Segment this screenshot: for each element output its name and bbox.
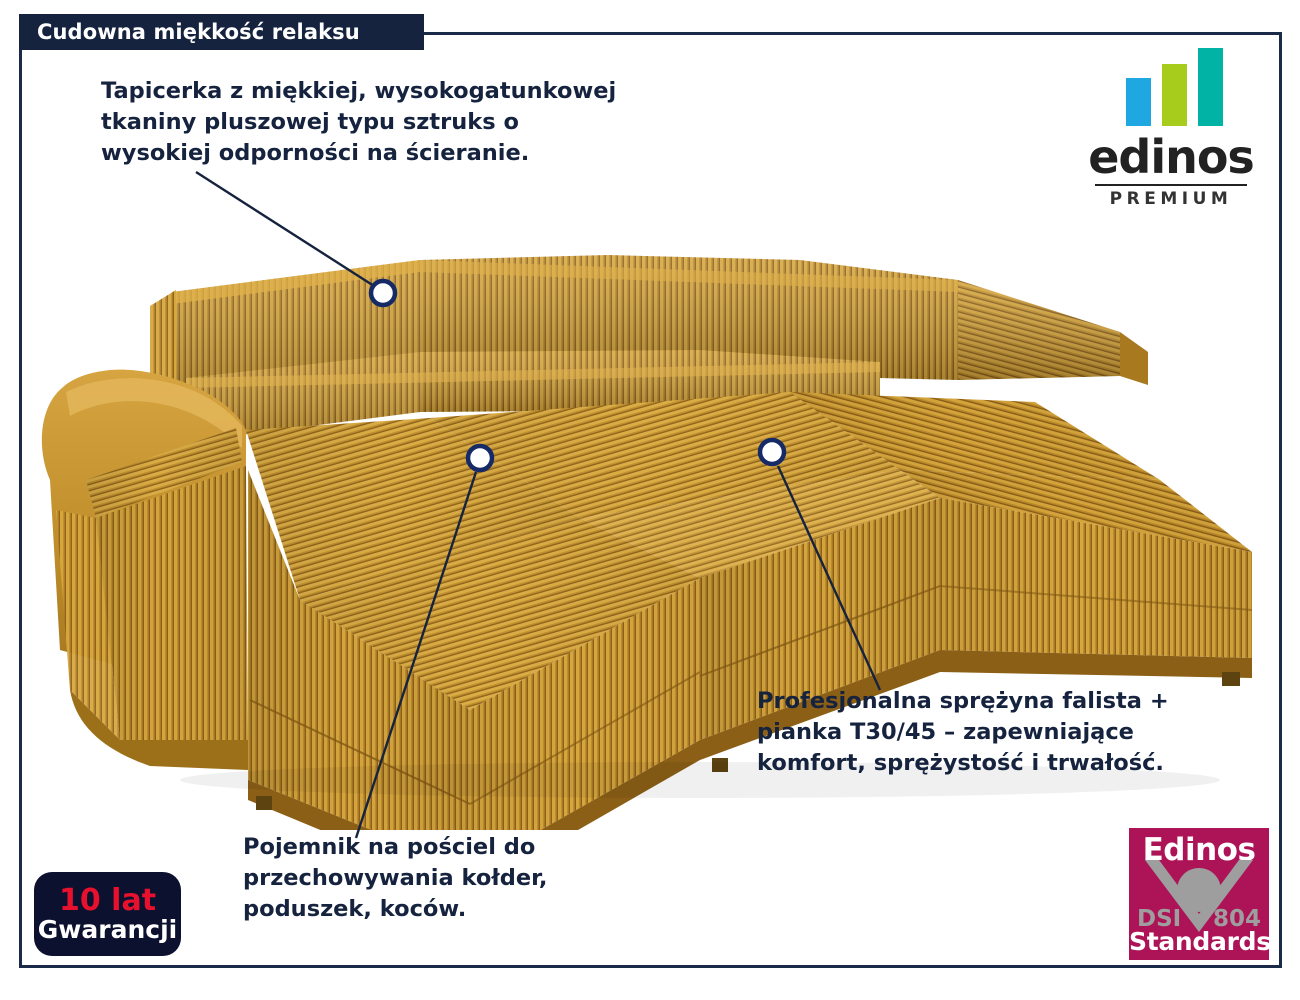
callout-storage-line-1: Pojemnik na pościel do (243, 832, 547, 863)
logo-divider (1095, 184, 1247, 186)
callout-text-storage: Pojemnik na pościel do przechowywania ko… (243, 832, 547, 925)
warranty-label: Gwarancji (38, 916, 177, 943)
fabric-marker[interactable] (371, 281, 395, 305)
logo-bar-blue (1126, 78, 1151, 126)
page-title-banner: Cudowna miękkość relaksu (19, 14, 424, 50)
callout-storage-line-3: poduszek, koców. (243, 894, 547, 925)
brand-logo-edinos-premium: edinos PREMIUM (1086, 48, 1256, 220)
logo-subtitle: PREMIUM (1086, 189, 1256, 209)
dsi-label: Standards (1129, 927, 1269, 956)
callout-text-fabric: Tapicerka z miękkiej, wysokogatunkowej t… (101, 76, 616, 169)
warranty-badge: 10 lat Gwarancji (34, 872, 181, 956)
callout-fabric-line-3: wysokiej odporności na ścieranie. (101, 138, 616, 169)
leader-line-fabric (196, 172, 374, 286)
logo-bar-teal (1198, 48, 1223, 126)
leader-line-storage (356, 472, 476, 838)
logo-wordmark: edinos (1086, 132, 1256, 182)
dsi-standards-badge: Edinos DSI 804 Standards (1129, 828, 1269, 960)
leader-line-spring (778, 466, 880, 690)
page-title: Cudowna miękkość relaksu (37, 20, 360, 44)
storage-marker[interactable] (468, 446, 492, 470)
spring-marker[interactable] (760, 440, 784, 464)
logo-bars-icon (1126, 48, 1226, 126)
infographic-canvas: Cudowna miękkość relaksu Tapicerka z mię… (0, 0, 1300, 1000)
callout-storage-line-2: przechowywania kołder, (243, 863, 547, 894)
callout-spring-line-3: komfort, sprężystość i trwałość. (757, 748, 1169, 779)
callout-fabric-line-1: Tapicerka z miękkiej, wysokogatunkowej (101, 76, 616, 107)
callout-text-spring: Profesjonalna sprężyna falista + pianka … (757, 686, 1169, 779)
callout-spring-line-1: Profesjonalna sprężyna falista + (757, 686, 1169, 717)
callout-fabric-line-2: tkaniny pluszowej typu sztruks o (101, 107, 616, 138)
logo-bar-green (1162, 64, 1187, 126)
warranty-years: 10 lat (59, 885, 156, 916)
callout-spring-line-2: pianka T30/45 – zapewniające (757, 717, 1169, 748)
